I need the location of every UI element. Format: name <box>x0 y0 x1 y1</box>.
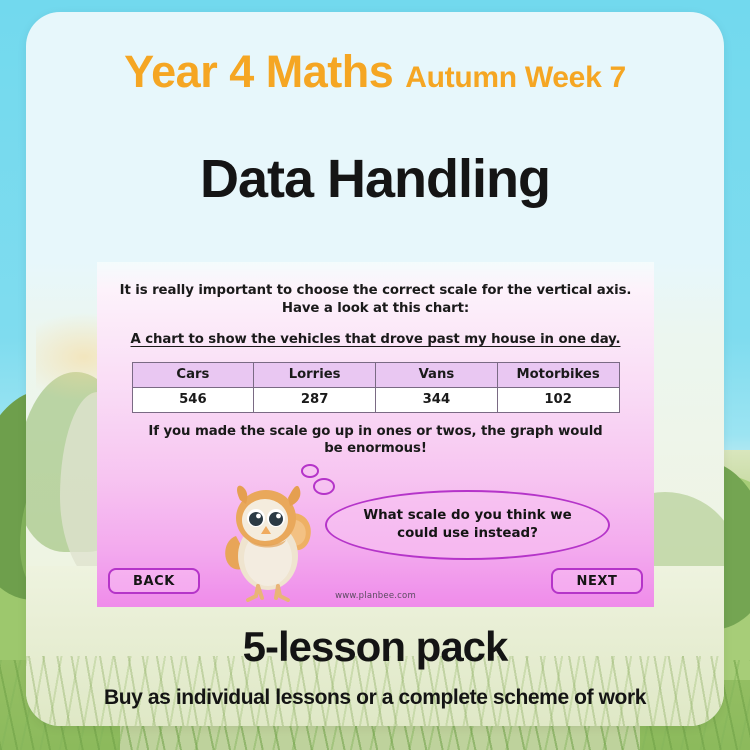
lesson-slide-preview: It is really important to choose the cor… <box>97 262 654 607</box>
table-cell-motorbikes: 102 <box>497 387 619 412</box>
page-title: Data Handling <box>26 148 724 210</box>
slide-note-line-1: If you made the scale go up in ones or t… <box>119 423 632 441</box>
header: Year 4 Maths Autumn Week 7 <box>26 12 724 130</box>
table-header-motorbikes: Motorbikes <box>497 362 619 387</box>
table-header-cars: Cars <box>132 362 254 387</box>
year-subject-label: Year 4 Maths <box>124 49 393 94</box>
promo-card: Year 4 Maths Autumn Week 7 Data Handling… <box>26 12 724 726</box>
slide-watermark: www.planbee.com <box>97 591 654 601</box>
table-row: 546 287 344 102 <box>132 387 619 412</box>
table-cell-vans: 344 <box>376 387 498 412</box>
vehicle-data-table: Cars Lorries Vans Motorbikes 546 287 344… <box>132 362 620 413</box>
table-header-vans: Vans <box>376 362 498 387</box>
thought-bubble-line-2: could use instead? <box>397 526 538 541</box>
pack-label: 5-lesson pack <box>26 623 724 671</box>
slide-intro-line-2: Have a look at this chart: <box>113 300 638 318</box>
table-header-lorries: Lorries <box>254 362 376 387</box>
thought-bubble: What scale do you think we could use ins… <box>325 490 610 560</box>
table-header-row: Cars Lorries Vans Motorbikes <box>132 362 619 387</box>
slide-intro-line-1: It is really important to choose the cor… <box>113 282 638 300</box>
slide-note-block: If you made the scale go up in ones or t… <box>97 423 654 458</box>
table-cell-cars: 546 <box>132 387 254 412</box>
buy-label: Buy as individual lessons or a complete … <box>26 686 724 710</box>
slide-note-line-2: be enormous! <box>119 440 632 458</box>
header-title-line: Year 4 Maths Autumn Week 7 <box>124 49 626 94</box>
slide-intro-block: It is really important to choose the cor… <box>97 262 654 317</box>
table-cell-lorries: 287 <box>254 387 376 412</box>
slide-chart-title: A chart to show the vehicles that drove … <box>97 331 654 349</box>
thought-bubble-line-1: What scale do you think we <box>363 508 571 523</box>
term-week-label: Autumn Week 7 <box>405 63 626 93</box>
thought-bubble-text: What scale do you think we could use ins… <box>363 507 571 543</box>
slide-footer: BACK NEXT www.planbee.com <box>97 559 654 607</box>
promo-scene: Year 4 Maths Autumn Week 7 Data Handling… <box>0 0 750 750</box>
